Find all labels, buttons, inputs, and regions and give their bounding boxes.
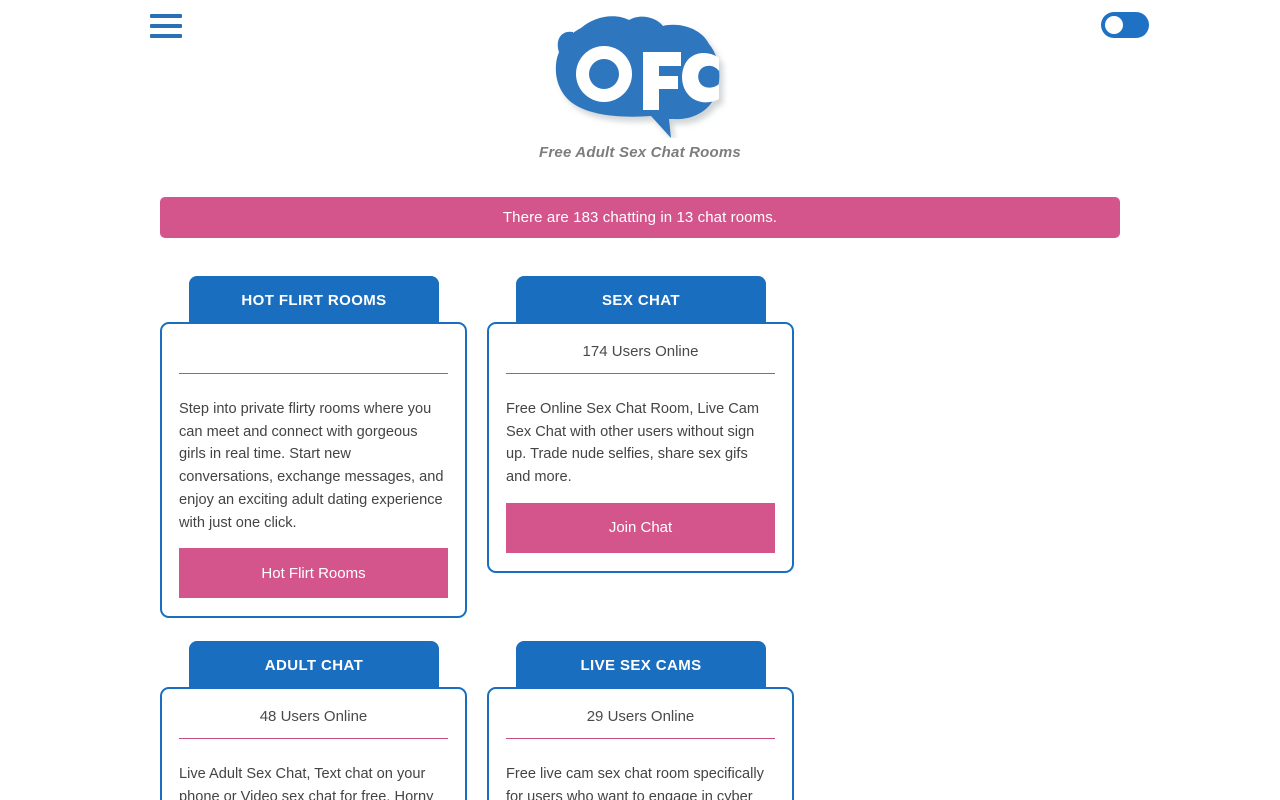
card-body: 174 Users Online Free Online Sex Chat Ro… [487, 322, 794, 573]
users-online-count: 48 Users Online [179, 706, 448, 728]
card-body: 48 Users Online Live Adult Sex Chat, Tex… [160, 687, 467, 800]
users-online-count [179, 341, 448, 363]
card-divider [179, 738, 448, 739]
card-divider [506, 373, 775, 374]
card-divider [506, 738, 775, 739]
chat-room-card: LIVE SEX CAMS 29 Users Online Free live … [487, 641, 794, 800]
online-status-banner: There are 183 chatting in 13 chat rooms. [160, 197, 1120, 238]
site-tagline: Free Adult Sex Chat Rooms [0, 144, 1280, 161]
card-description: Live Adult Sex Chat, Text chat on your p… [179, 763, 448, 800]
card-divider [179, 373, 448, 374]
join-chat-button[interactable]: Join Chat [506, 503, 775, 553]
chat-room-card: ADULT CHAT 48 Users Online Live Adult Se… [160, 641, 467, 800]
card-description: Free Online Sex Chat Room, Live Cam Sex … [506, 398, 775, 489]
site-logo-block: Free Adult Sex Chat Rooms [0, 14, 1280, 161]
users-online-count: 174 Users Online [506, 341, 775, 363]
card-description: Step into private flirty rooms where you… [179, 398, 448, 534]
chat-room-card: HOT FLIRT ROOMS Step into private flirty… [160, 276, 467, 618]
card-body: Step into private flirty rooms where you… [160, 322, 467, 618]
chat-room-card: SEX CHAT 174 Users Online Free Online Se… [487, 276, 794, 618]
card-description: Free live cam sex chat room specifically… [506, 763, 775, 800]
users-online-count: 29 Users Online [506, 706, 775, 728]
join-chat-button[interactable]: Hot Flirt Rooms [179, 548, 448, 598]
chat-room-card-grid: HOT FLIRT ROOMS Step into private flirty… [160, 276, 1120, 800]
ofc-logo-icon[interactable] [551, 14, 729, 138]
card-body: 29 Users Online Free live cam sex chat r… [487, 687, 794, 800]
